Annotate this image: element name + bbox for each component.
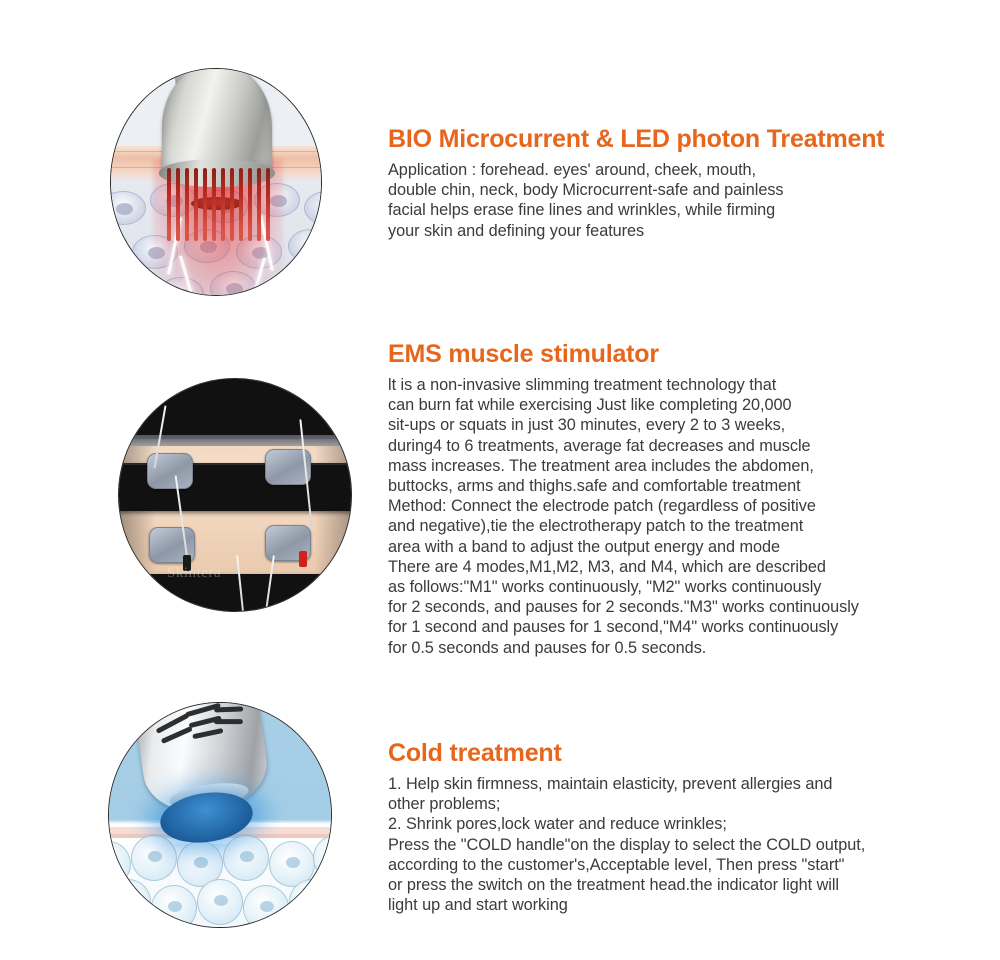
microcurrent-treatment-image bbox=[110, 68, 322, 296]
bio-microcurrent-heading: BIO Microcurrent & LED photon Treatment bbox=[388, 124, 968, 154]
cold-treatment-image bbox=[108, 702, 332, 928]
electrode-pad bbox=[147, 453, 193, 489]
image-watermark: Skintera bbox=[167, 565, 221, 582]
bio-microcurrent-body: Application : forehead. eyes' around, ch… bbox=[388, 160, 968, 241]
product-feature-page: BIO Microcurrent & LED photon Treatment … bbox=[0, 0, 1000, 960]
cell-cluster bbox=[108, 833, 332, 927]
vent-slots bbox=[142, 702, 255, 761]
ems-body: lt is a non-invasive slimming treatment … bbox=[388, 375, 968, 658]
cold-treatment-copy: Cold treatment 1. Help skin firmness, ma… bbox=[388, 738, 968, 915]
garment-bottom bbox=[118, 574, 352, 611]
cold-treatment-body: 1. Help skin firmness, maintain elastici… bbox=[388, 774, 968, 915]
ems-stimulator-image: Skintera bbox=[118, 378, 352, 612]
garment-top bbox=[118, 379, 352, 439]
bio-microcurrent-copy: BIO Microcurrent & LED photon Treatment … bbox=[388, 124, 968, 241]
waistband bbox=[118, 435, 352, 447]
probe-pin-array bbox=[167, 168, 268, 240]
ems-copy: EMS muscle stimulator lt is a non-invasi… bbox=[388, 339, 968, 658]
ems-heading: EMS muscle stimulator bbox=[388, 339, 968, 369]
cold-treatment-heading: Cold treatment bbox=[388, 738, 968, 768]
electrode-plug-red bbox=[299, 551, 307, 567]
